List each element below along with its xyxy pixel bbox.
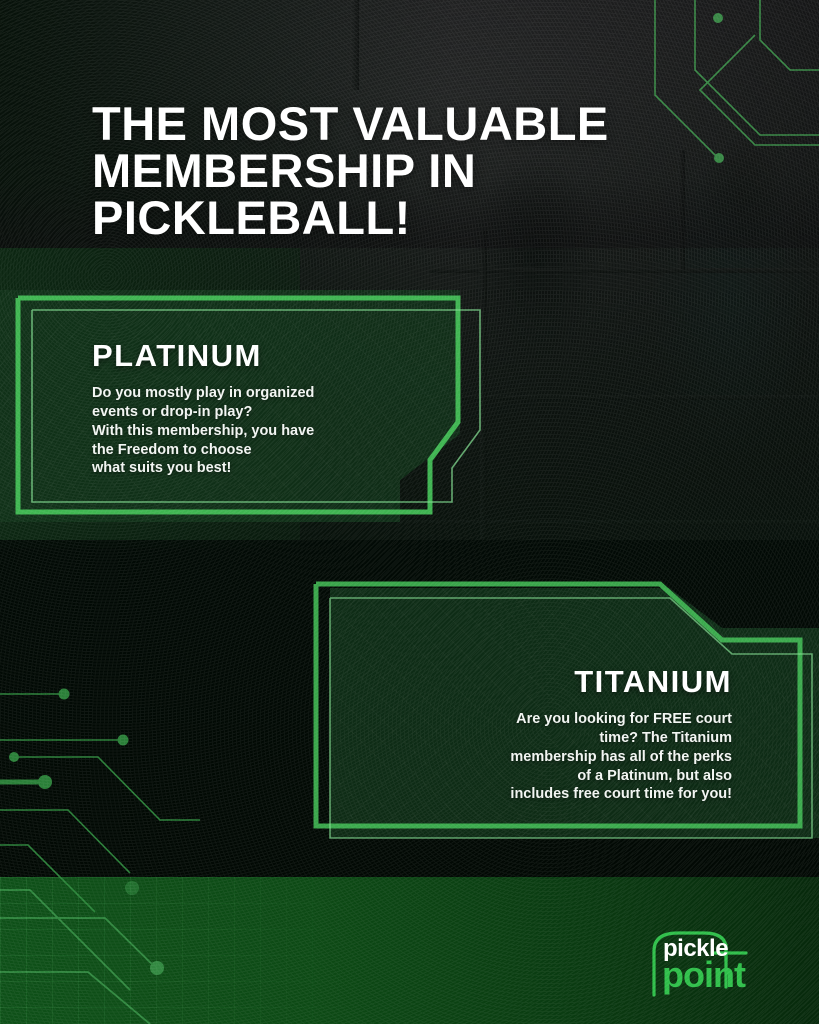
titanium-body: Are you looking for FREE court time? The…: [440, 710, 732, 805]
page-headline: THE MOST VALUABLE MEMBERSHIP IN PICKLEBA…: [92, 100, 692, 241]
platinum-body-line-4: the Freedom to choose: [92, 441, 422, 460]
titanium-body-line-1: Are you looking for FREE court: [440, 710, 732, 729]
titanium-body-line-3: membership has all of the perks: [440, 748, 732, 767]
platinum-body-line-2: events or drop-in play?: [92, 403, 422, 422]
titanium-body-line-5: includes free court time for you!: [440, 785, 732, 804]
pickle-point-logo[interactable]: pickle point: [630, 925, 760, 1000]
platinum-body-line-3: With this membership, you have: [92, 422, 422, 441]
titanium-card-text: TITANIUM Are you looking for FREE court …: [440, 666, 732, 804]
headline-line-3: PICKLEBALL!: [92, 194, 692, 241]
platinum-title: PLATINUM: [92, 340, 422, 373]
headline-line-1: THE MOST VALUABLE: [92, 100, 692, 147]
platinum-body: Do you mostly play in organized events o…: [92, 384, 422, 479]
poster-canvas: THE MOST VALUABLE MEMBERSHIP IN PICKLEBA…: [0, 0, 819, 1024]
titanium-body-line-2: time? The Titanium: [440, 729, 732, 748]
titanium-body-line-4: of a Platinum, but also: [440, 767, 732, 786]
platinum-card-text: PLATINUM Do you mostly play in organized…: [92, 340, 422, 478]
platinum-body-line-5: what suits you best!: [92, 459, 422, 478]
platinum-body-line-1: Do you mostly play in organized: [92, 384, 422, 403]
logo-word-point: point: [662, 957, 745, 993]
titanium-title: TITANIUM: [440, 666, 732, 699]
headline-line-2: MEMBERSHIP IN: [92, 147, 692, 194]
